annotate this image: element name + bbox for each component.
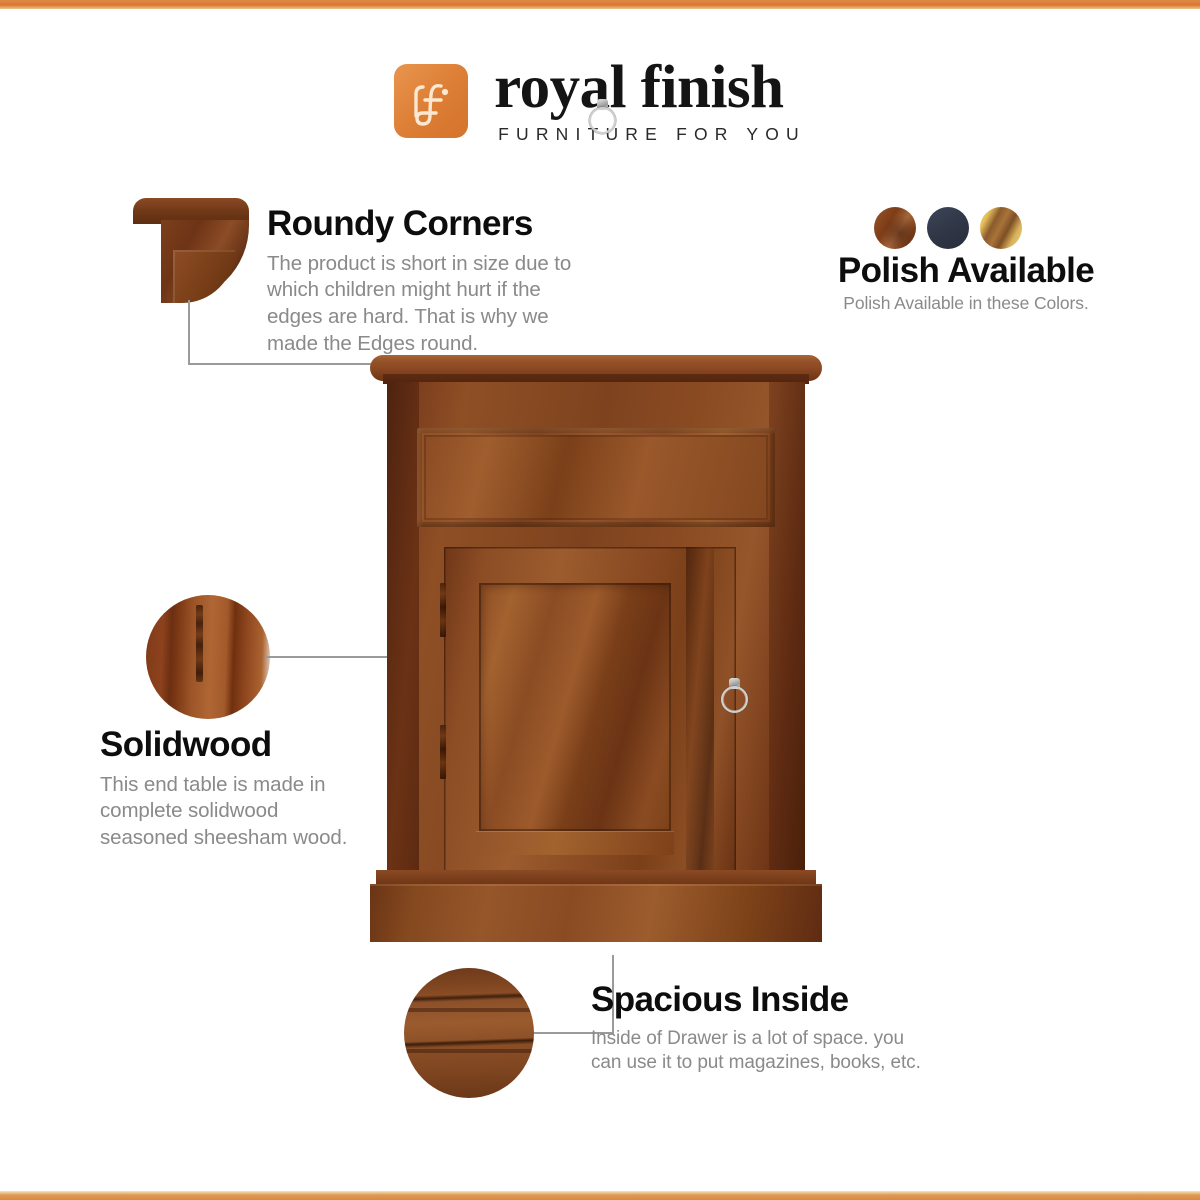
swatch-walnut-brown[interactable] xyxy=(874,207,916,249)
polish-title: Polish Available xyxy=(806,253,1126,289)
swatch-honey-gold[interactable] xyxy=(980,207,1022,249)
drawer-interior-bubble xyxy=(404,968,534,1098)
door-ring-pull-handle[interactable] xyxy=(719,678,749,720)
solidwood-body: This end table is made in complete solid… xyxy=(100,772,360,852)
infographic-poster: royal finish FURNITURE FOR YOU Roundy Co… xyxy=(0,0,1200,1200)
hinge-strap-detail xyxy=(196,605,203,682)
brand-tagline: FURNITURE FOR YOU xyxy=(494,124,806,145)
polish-body: Polish Available in these Colors. xyxy=(806,292,1126,315)
roundy-body: The product is short in size due to whic… xyxy=(267,251,577,358)
spacious-title: Spacious Inside xyxy=(591,982,921,1018)
drawer-face-panel xyxy=(424,435,768,520)
callout-solidwood: Solidwood This end table is made in comp… xyxy=(100,727,360,852)
pull-ring xyxy=(721,686,748,713)
drawer-ring-pull-handle[interactable] xyxy=(587,99,617,141)
hinge-icon xyxy=(440,583,446,637)
spacious-body: Inside of Drawer is a lot of space. you … xyxy=(591,1027,921,1076)
hinge-icon xyxy=(440,725,446,779)
corner-inner-ledge xyxy=(173,250,235,303)
brand-name: royal finish xyxy=(494,58,806,118)
rf-monogram-icon xyxy=(394,64,468,138)
top-accent-bar xyxy=(0,0,1200,9)
product-end-table xyxy=(370,355,822,955)
swatch-dark-navy[interactable] xyxy=(927,207,969,249)
cabinet-side-panel xyxy=(387,382,419,879)
wood-grain-line xyxy=(404,1049,534,1053)
polish-swatch-row xyxy=(874,207,1022,249)
door-center-panel xyxy=(479,583,671,831)
hinge-closeup-bubble xyxy=(146,595,270,719)
callout-roundy-corners: Roundy Corners The product is short in s… xyxy=(267,206,577,357)
roundy-title: Roundy Corners xyxy=(267,206,577,242)
solidwood-title: Solidwood xyxy=(100,727,360,763)
plinth-base xyxy=(370,884,822,942)
door-bottom-rail xyxy=(476,831,674,855)
door-grain-stripe xyxy=(686,547,714,873)
brand-wordmark: royal finish FURNITURE FOR YOU xyxy=(494,58,806,145)
cabinet-door[interactable] xyxy=(444,547,736,873)
pull-ring xyxy=(589,107,616,134)
rounded-corner-detail-image xyxy=(133,198,249,303)
drawer-front[interactable] xyxy=(417,428,775,527)
callout-spacious-inside: Spacious Inside Inside of Drawer is a lo… xyxy=(591,982,921,1076)
wood-grain-line xyxy=(404,1008,534,1012)
callout-polish-available: Polish Available Polish Available in the… xyxy=(806,253,1126,314)
bottom-accent-bar xyxy=(0,1191,1200,1200)
